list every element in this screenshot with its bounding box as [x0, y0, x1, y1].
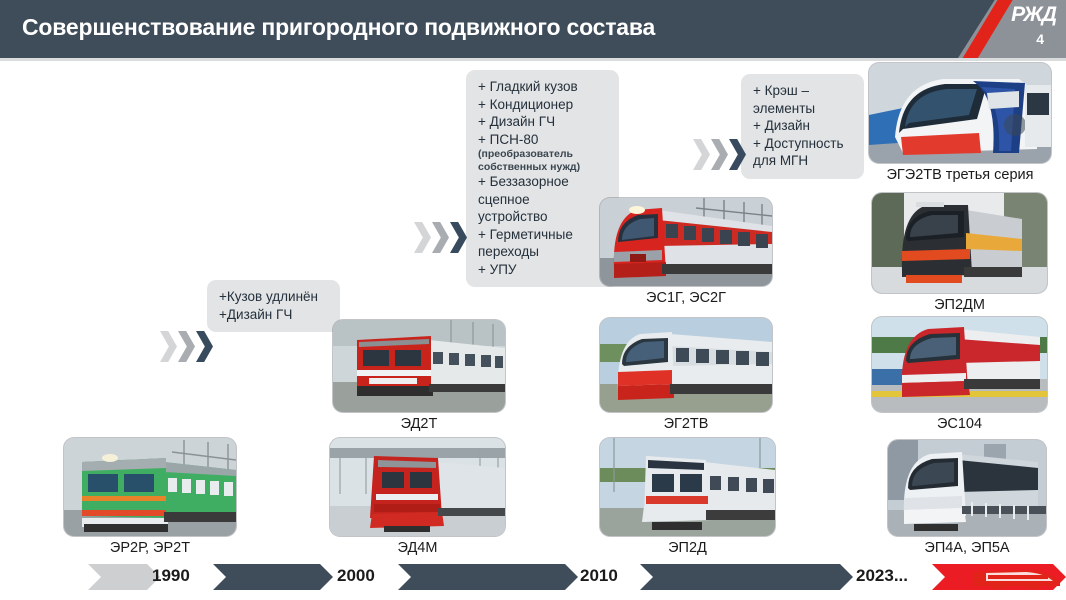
- timeline-year-label: 2010: [580, 566, 618, 586]
- photo-card-eg2tv: ЭГ2ТВ: [600, 318, 772, 412]
- chevron-right-icon: [693, 139, 710, 170]
- chevron-right-icon: [196, 331, 213, 362]
- note-line: + Крэш –: [753, 82, 852, 100]
- photo-card-ep2d: ЭП2Д: [600, 438, 775, 536]
- note-line: + Гладкий кузов: [478, 78, 607, 96]
- train-photo-ege2tv: [869, 63, 1051, 163]
- chevron-right-icon: [414, 222, 431, 253]
- photo-card-es1g: ЭС1Г, ЭС2Г: [600, 198, 772, 286]
- note-line-sub: (преобразователь: [478, 148, 607, 161]
- slide-number: 4: [1036, 31, 1044, 47]
- note-line: устройство: [478, 208, 607, 226]
- note-line: переходы: [478, 243, 607, 261]
- photo-card-ed4m: ЭД4М: [330, 438, 505, 536]
- chevron-right-icon: [432, 222, 449, 253]
- timeline-year-label: 2023...: [856, 566, 908, 586]
- note-line: + Доступность: [753, 135, 852, 153]
- note-box-crash: + Крэш – элементы + Дизайн + Доступность…: [741, 74, 864, 179]
- timeline-year-label: 1990: [152, 566, 190, 586]
- timeline-year-label: 2000: [337, 566, 375, 586]
- photo-card-ed2t: ЭД2Т: [333, 320, 505, 412]
- train-photo-ep2d: [600, 438, 775, 536]
- photo-card-ep4a: ЭП4А, ЭП5А: [888, 440, 1046, 536]
- photo-caption-ege2tv: ЭГЭ2ТВ третья серия: [886, 167, 1033, 183]
- chevron-arrows-group: [414, 222, 467, 253]
- slide-header: Совершенствование пригородного подвижног…: [0, 0, 1066, 58]
- note-line-sub: собственных нужд): [478, 161, 607, 174]
- photo-card-ege2tv: ЭГЭ2ТВ третья серия: [869, 63, 1051, 163]
- slide: Совершенствование пригородного подвижног…: [0, 0, 1066, 600]
- train-photo-es104: [872, 317, 1047, 412]
- chevron-arrows-group: [160, 331, 213, 362]
- note-line: + ПСН-80: [478, 131, 607, 149]
- photo-card-es104: ЭС104: [872, 317, 1047, 412]
- timeline-segment-pre1990: [88, 564, 160, 590]
- note-line: +Кузов удлинён: [219, 288, 328, 306]
- note-line: сцепное: [478, 191, 607, 209]
- note-line: + Дизайн: [753, 117, 852, 135]
- photo-card-ep2dm: ЭП2ДМ: [872, 193, 1047, 293]
- photo-card-er2r: ЭР2Р, ЭР2Т: [64, 438, 236, 536]
- high-speed-train-icon: [974, 566, 1060, 590]
- train-photo-ep2dm: [872, 193, 1047, 293]
- photo-caption-er2r: ЭР2Р, ЭР2Т: [110, 540, 190, 556]
- photo-caption-eg2tv: ЭГ2ТВ: [664, 416, 709, 432]
- photo-caption-ed2t: ЭД2Т: [401, 416, 438, 432]
- train-photo-es1g: [600, 198, 772, 286]
- train-photo-ep4a: [888, 440, 1046, 536]
- note-line: + Герметичные: [478, 226, 607, 244]
- note-line: для МГН: [753, 152, 852, 170]
- chevron-arrows-group: [693, 139, 746, 170]
- chevron-right-icon: [178, 331, 195, 362]
- header-divider: [0, 58, 1066, 61]
- note-line: + Кондиционер: [478, 96, 607, 114]
- timeline-segment-2000-2010: [398, 564, 578, 590]
- chevron-right-icon: [160, 331, 177, 362]
- timeline-segment-2010-2023: [640, 564, 853, 590]
- photo-caption-ed4m: ЭД4М: [398, 540, 438, 556]
- note-line: +Дизайн ГЧ: [219, 306, 328, 324]
- photo-caption-es104: ЭС104: [937, 416, 982, 432]
- note-line: + Дизайн ГЧ: [478, 113, 607, 131]
- note-line: элементы: [753, 100, 852, 118]
- chevron-right-icon: [729, 139, 746, 170]
- train-photo-eg2tv: [600, 318, 772, 412]
- timeline-segment-1990-2000: [213, 564, 333, 590]
- logo-text: РЖД: [1011, 3, 1056, 27]
- note-box-features: + Гладкий кузов + Кондиционер + Дизайн Г…: [466, 70, 619, 287]
- photo-caption-ep2d: ЭП2Д: [668, 540, 707, 556]
- note-line: + УПУ: [478, 261, 607, 279]
- train-photo-ed2t: [333, 320, 505, 412]
- chevron-right-icon: [450, 222, 467, 253]
- chevron-right-icon: [711, 139, 728, 170]
- train-photo-ed4m: [330, 438, 505, 536]
- timeline: 1990 2000 2010 2023...: [0, 564, 1066, 594]
- note-line: + Беззазорное: [478, 173, 607, 191]
- note-box-kuzov: +Кузов удлинён +Дизайн ГЧ: [207, 280, 340, 332]
- photo-caption-es1g: ЭС1Г, ЭС2Г: [646, 290, 726, 306]
- photo-caption-ep4a: ЭП4А, ЭП5А: [924, 540, 1009, 556]
- photo-caption-ep2dm: ЭП2ДМ: [934, 297, 985, 313]
- train-photo-er2r: [64, 438, 236, 536]
- page-title: Совершенствование пригородного подвижног…: [22, 14, 655, 41]
- rzd-logo: РЖД 4: [958, 0, 1066, 58]
